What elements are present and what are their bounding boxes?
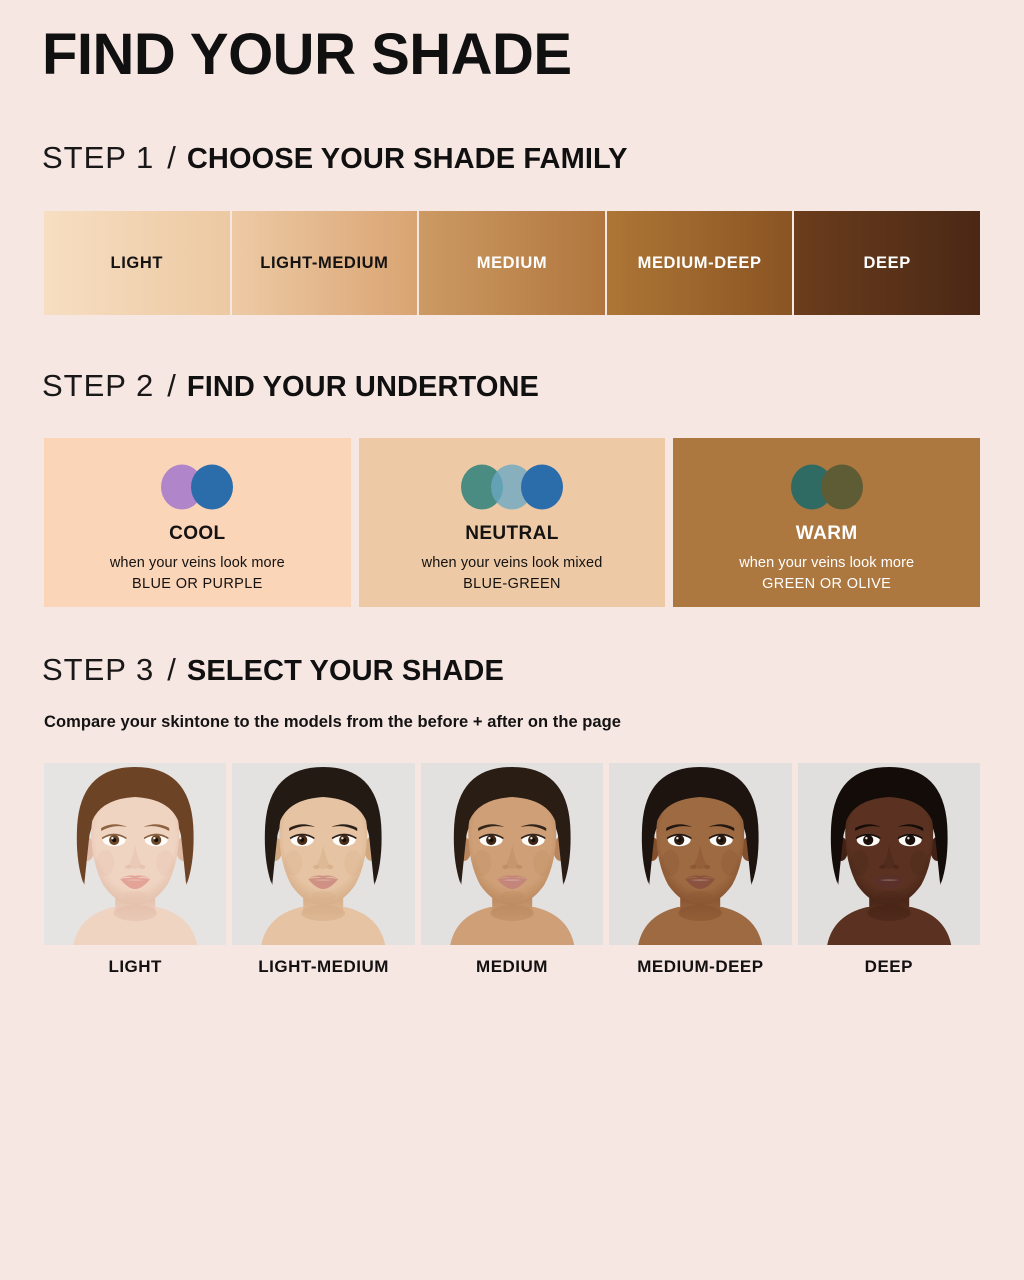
model-label: MEDIUM (421, 957, 603, 977)
model-portrait-illustration (232, 763, 414, 945)
model-portrait-illustration (609, 763, 791, 945)
shade-family-label: DEEP (864, 254, 911, 273)
undertone-desc-line-1: when your veins look more (110, 555, 285, 571)
step-1-heading: STEP 1 / CHOOSE YOUR SHADE FAMILY (42, 140, 628, 176)
shade-family-swatch[interactable]: MEDIUM-DEEP (607, 211, 795, 315)
step-2-separator: / (154, 368, 187, 404)
undertone-desc-line-1: when your veins look more (739, 555, 914, 571)
step-2-heading: STEP 2 / FIND YOUR UNDERTONE (42, 368, 539, 404)
undertone-vein-color-dots (137, 464, 257, 508)
shade-family-label: LIGHT-MEDIUM (260, 254, 388, 273)
model-portrait-illustration (44, 763, 226, 945)
model-photo-light[interactable] (44, 763, 226, 945)
undertone-panel-cool[interactable]: COOLwhen your veins look moreBLUE OR PUR… (44, 438, 351, 607)
step-3-subtitle: Compare your skintone to the models from… (44, 713, 621, 732)
undertone-name: WARM (796, 523, 858, 545)
shade-family-swatch[interactable]: MEDIUM (419, 211, 607, 315)
undertone-description: when your veins look moreGREEN OR OLIVE (739, 553, 914, 594)
shade-family-label: MEDIUM (477, 254, 548, 273)
model-label-row: LIGHTLIGHT-MEDIUMMEDIUMMEDIUM-DEEPDEEP (44, 957, 980, 977)
model-label: DEEP (798, 957, 980, 977)
model-photo-deep[interactable] (798, 763, 980, 945)
model-photo-medium[interactable] (421, 763, 603, 945)
model-portrait-illustration (421, 763, 603, 945)
model-photo-light-medium[interactable] (232, 763, 414, 945)
undertone-vein-color-dots (767, 464, 887, 508)
undertone-panel-warm[interactable]: WARMwhen your veins look moreGREEN OR OL… (673, 438, 980, 607)
find-your-shade-page: FIND YOUR SHADE STEP 1 / CHOOSE YOUR SHA… (0, 0, 1024, 1280)
shade-family-label: LIGHT (111, 254, 164, 273)
step-3-separator: / (154, 652, 187, 688)
shade-family-label: MEDIUM-DEEP (638, 254, 762, 273)
step-1-title: CHOOSE YOUR SHADE FAMILY (187, 143, 628, 176)
shade-family-swatch-bar: LIGHTLIGHT-MEDIUMMEDIUMMEDIUM-DEEPDEEP (44, 211, 980, 315)
step-3-title: SELECT YOUR SHADE (187, 655, 504, 688)
undertone-panel-neutral[interactable]: NEUTRALwhen your veins look mixedBLUE-GR… (359, 438, 666, 607)
undertone-desc-line-2: GREEN OR OLIVE (739, 574, 914, 595)
step-2-number: STEP 2 (42, 368, 154, 404)
undertone-vein-color-dots (452, 464, 572, 508)
undertone-desc-line-2: BLUE OR PURPLE (110, 574, 285, 595)
step-1-number: STEP 1 (42, 140, 154, 176)
model-photo-row (44, 763, 980, 945)
step-2-title: FIND YOUR UNDERTONE (187, 371, 539, 404)
model-label: LIGHT-MEDIUM (232, 957, 414, 977)
undertone-name: NEUTRAL (465, 523, 559, 545)
undertone-description: when your veins look mixedBLUE-GREEN (422, 553, 603, 594)
model-portrait-illustration (798, 763, 980, 945)
step-3-heading: STEP 3 / SELECT YOUR SHADE (42, 652, 504, 688)
step-1-separator: / (154, 140, 187, 176)
model-label: LIGHT (44, 957, 226, 977)
undertone-panel-row: COOLwhen your veins look moreBLUE OR PUR… (44, 438, 980, 607)
shade-family-swatch[interactable]: DEEP (794, 211, 980, 315)
model-photo-medium-deep[interactable] (609, 763, 791, 945)
undertone-desc-line-2: BLUE-GREEN (422, 574, 603, 595)
undertone-description: when your veins look moreBLUE OR PURPLE (110, 553, 285, 594)
page-title: FIND YOUR SHADE (42, 26, 572, 84)
shade-family-swatch[interactable]: LIGHT (44, 211, 232, 315)
shade-family-swatch[interactable]: LIGHT-MEDIUM (232, 211, 420, 315)
step-3-number: STEP 3 (42, 652, 154, 688)
undertone-name: COOL (169, 523, 226, 545)
undertone-desc-line-1: when your veins look mixed (422, 555, 603, 571)
model-label: MEDIUM-DEEP (609, 957, 791, 977)
